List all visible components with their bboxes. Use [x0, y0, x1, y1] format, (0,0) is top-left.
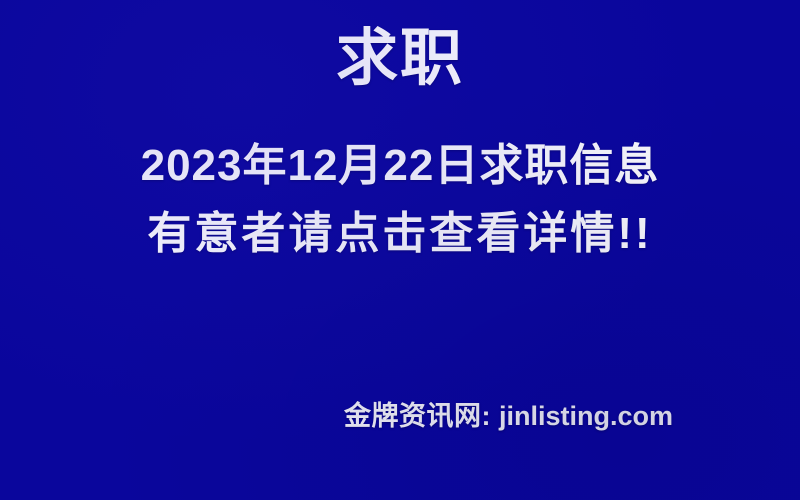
footer-site-label: 金牌资讯网:: [344, 401, 491, 431]
banner-headline: 求职: [0, 22, 800, 96]
banner-body-line-date: 2023年12月22日求职信息: [0, 132, 800, 200]
job-posting-banner: 求职 2023年12月22日求职信息 有意者请点击查看详情!! 金牌资讯网: j…: [0, 0, 800, 500]
banner-body: 2023年12月22日求职信息 有意者请点击查看详情!!: [0, 132, 800, 268]
footer-site-url: jinlisting.com: [499, 401, 673, 431]
banner-body-line-cta: 有意者请点击查看详情!!: [0, 200, 800, 268]
footer-watermark: 金牌资讯网: jinlisting.com: [344, 399, 673, 433]
